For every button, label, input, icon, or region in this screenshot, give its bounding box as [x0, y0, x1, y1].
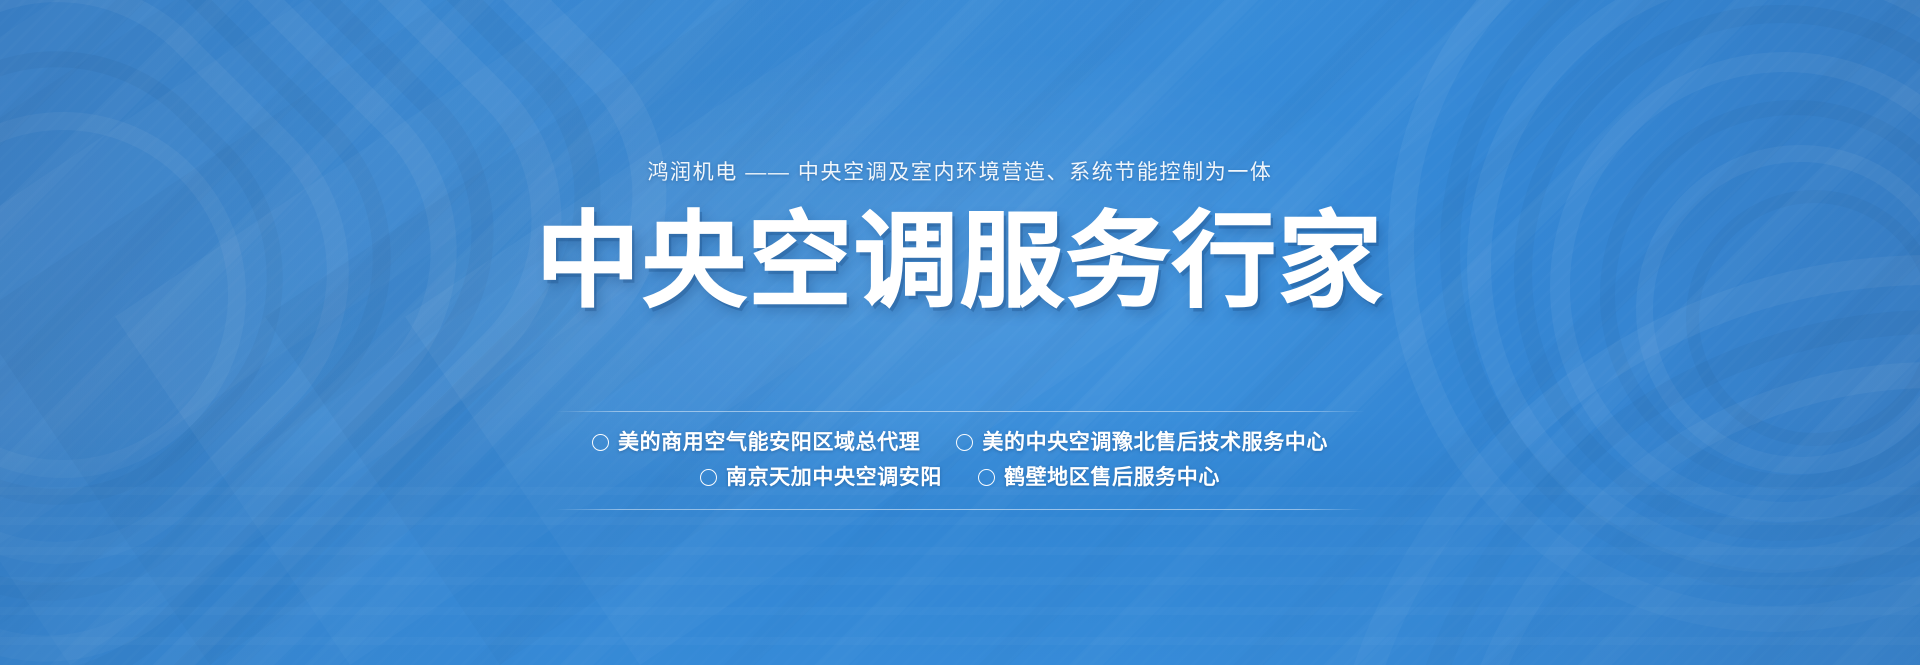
- credential-label: 美的中央空调豫北售后技术服务中心: [982, 432, 1328, 453]
- hollow-circle-icon: [956, 434, 973, 451]
- divider-top: [555, 411, 1365, 412]
- banner-headline: 中央空调服务行家: [536, 207, 1384, 317]
- credential-label: 鹤壁地区售后服务中心: [1004, 467, 1220, 488]
- credential-item[interactable]: 鹤壁地区售后服务中心: [978, 467, 1220, 488]
- credential-row: 南京天加中央空调安阳 鹤壁地区售后服务中心: [700, 467, 1220, 488]
- hero-banner: 鸿润机电 —— 中央空调及室内环境营造、系统节能控制为一体 中央空调服务行家 美…: [0, 0, 1920, 665]
- hollow-circle-icon: [592, 434, 609, 451]
- credential-item[interactable]: 美的中央空调豫北售后技术服务中心: [956, 432, 1328, 453]
- divider-bottom: [555, 509, 1365, 510]
- banner-content: 鸿润机电 —— 中央空调及室内环境营造、系统节能控制为一体 中央空调服务行家 美…: [0, 0, 1920, 665]
- credential-item[interactable]: 美的商用空气能安阳区域总代理: [592, 432, 920, 453]
- credential-row: 美的商用空气能安阳区域总代理 美的中央空调豫北售后技术服务中心: [592, 432, 1328, 453]
- hollow-circle-icon: [978, 469, 995, 486]
- credential-label: 南京天加中央空调安阳: [726, 467, 942, 488]
- credential-list: 美的商用空气能安阳区域总代理 美的中央空调豫北售后技术服务中心 南京天加中央空调…: [592, 432, 1328, 488]
- credential-item[interactable]: 南京天加中央空调安阳: [700, 467, 942, 488]
- banner-subtitle: 鸿润机电 —— 中央空调及室内环境营造、系统节能控制为一体: [647, 162, 1272, 183]
- hollow-circle-icon: [700, 469, 717, 486]
- credential-label: 美的商用空气能安阳区域总代理: [618, 432, 920, 453]
